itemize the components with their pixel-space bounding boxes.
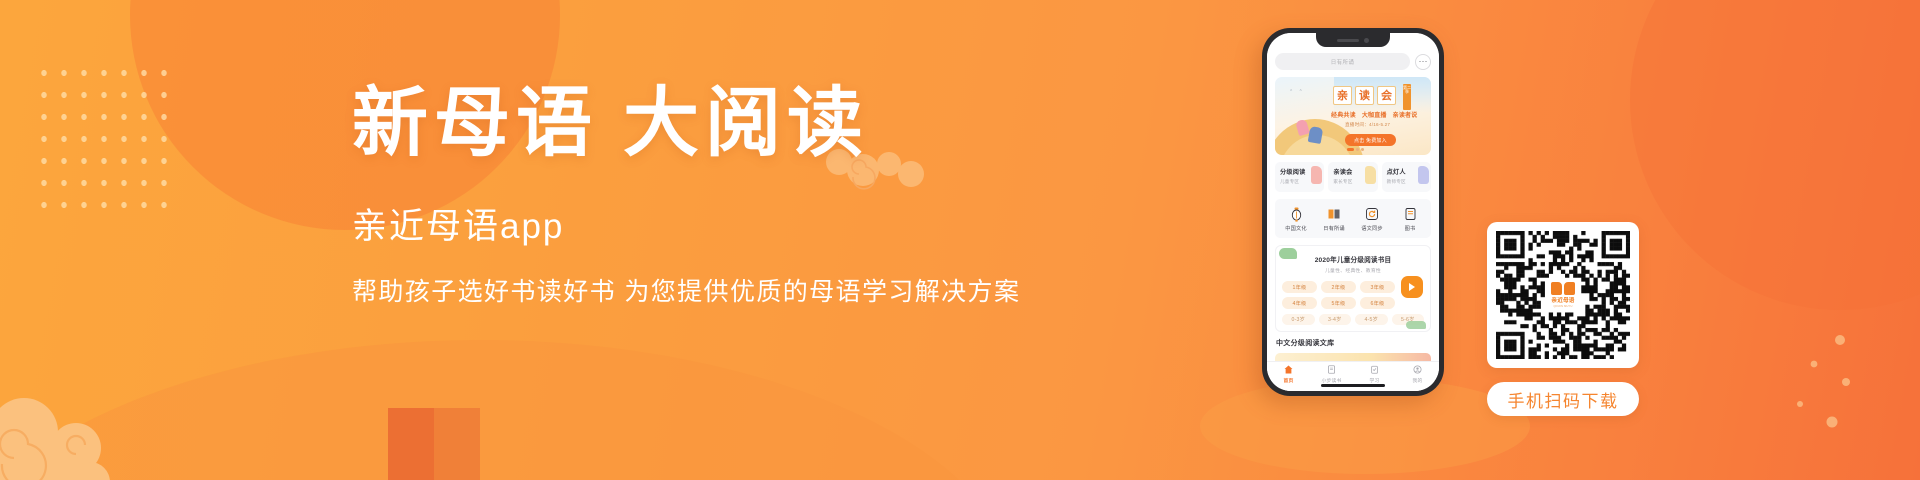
grade-chip[interactable]: 4年级	[1282, 297, 1317, 309]
decorative-dot-grid	[34, 62, 174, 210]
download-button[interactable]: 手机扫码下载	[1487, 382, 1639, 416]
age-chip[interactable]: 0-3岁	[1282, 314, 1315, 325]
tab-profile[interactable]: 我的	[1396, 363, 1439, 384]
decorative-circle-right	[1630, 0, 1920, 310]
book-logo-shape	[1551, 282, 1575, 295]
book-logo-icon: 亲近母语 QINJIN MUYU	[1546, 278, 1580, 312]
promo-banner: 新母语 大阅读 亲近母语app 帮助孩子选好书读好书 为您提供优质的母语学习解决…	[0, 0, 1920, 480]
grade-chip[interactable]: 3年级	[1360, 281, 1395, 293]
library-title: 中文分级阅读文库	[1276, 338, 1431, 348]
hero-title-char: 读	[1355, 86, 1374, 105]
cloud-swirl-icon	[0, 384, 172, 480]
grade-chip[interactable]: 6年级	[1360, 297, 1395, 309]
search-placeholder: 日有所诵	[1331, 58, 1355, 66]
carousel-pager[interactable]	[1347, 148, 1364, 151]
tab-study[interactable]: 学习	[1353, 363, 1396, 384]
tab-label: 首页	[1267, 377, 1310, 384]
app-home-screen: 日有所诵 ⌃ ⌃ 亲 读 会	[1267, 33, 1439, 391]
age-chip[interactable]: 4-5岁	[1355, 314, 1388, 325]
lantern-icon	[1277, 206, 1315, 222]
quick-link-label: 图书	[1391, 225, 1429, 232]
grade-chip[interactable]: 2年级	[1321, 281, 1356, 293]
booklist-card: 2020年儿童分级阅读书目 儿童性、经典性、教育性 1年级 2年级 3年级 4年…	[1275, 245, 1431, 332]
tab-home[interactable]: 首页	[1267, 363, 1310, 384]
birds-icon: ⌃ ⌃	[1289, 89, 1305, 95]
entry-card-parent-club[interactable]: 亲读会 家长专区	[1328, 162, 1377, 192]
hero-time: 直播时间：4/16-5.27	[1345, 122, 1390, 128]
page-title: 新母语 大阅读	[352, 86, 1072, 162]
age-chip-row: 0-3岁 3-4岁 4-5岁 5-6岁	[1282, 314, 1424, 325]
clipboard-icon	[1353, 363, 1396, 375]
bookmark-icon	[1365, 166, 1376, 184]
grade-chip[interactable]: 1年级	[1282, 281, 1317, 293]
books-icon	[1391, 206, 1429, 222]
hero-feature: 亲读者说	[1393, 110, 1418, 119]
home-icon	[1267, 363, 1310, 375]
quick-link-label: 日有所诵	[1315, 225, 1353, 232]
list-icon	[1310, 363, 1353, 375]
hero-title: 亲 读 会	[1333, 86, 1396, 105]
decorative-box	[388, 408, 480, 480]
leaf-decoration-icon	[1279, 248, 1297, 259]
quick-link-label: 中国文化	[1277, 225, 1315, 232]
hero-title-char: 亲	[1333, 86, 1352, 105]
copy-block: 新母语 大阅读 亲近母语app 帮助孩子选好书读好书 为您提供优质的母语学习解决…	[352, 86, 1072, 307]
hero-title-char: 会	[1377, 86, 1396, 105]
quick-link-daily-recite[interactable]: 日有所诵	[1315, 206, 1353, 232]
quick-link-chinese-culture[interactable]: 中国文化	[1277, 206, 1315, 232]
hero-features: 经典共读 大咖直播 亲读者说	[1331, 110, 1417, 119]
play-video-icon[interactable]	[1401, 276, 1423, 298]
decorative-hill	[0, 340, 1020, 480]
logo-sub: QINJIN MUYU	[1553, 305, 1572, 308]
tab-reading[interactable]: 小步读书	[1310, 363, 1353, 384]
hero-season-ribbon: 第二季	[1403, 84, 1411, 110]
tab-label: 我的	[1396, 377, 1439, 384]
phone-screen: 日有所诵 ⌃ ⌃ 亲 读 会	[1267, 33, 1439, 391]
search-row: 日有所诵	[1275, 53, 1431, 70]
front-camera-icon	[1364, 38, 1369, 43]
hero-feature: 大咖直播	[1362, 110, 1387, 119]
app-name-subtitle: 亲近母语app	[352, 208, 1072, 247]
bookmark-icon	[1311, 166, 1322, 184]
phone-notch	[1316, 33, 1390, 47]
hero-banner-card[interactable]: ⌃ ⌃ 亲 读 会 第二季 经典共读 大咖直播 亲读者说 直播时间：4/16-5…	[1275, 77, 1431, 155]
leaf-decoration-icon	[1406, 321, 1426, 329]
booklist-subtitle: 儿童性、经典性、教育性	[1282, 267, 1424, 274]
refresh-icon	[1353, 206, 1391, 222]
speaker-grill-icon	[1337, 39, 1359, 42]
age-chip[interactable]: 3-4岁	[1319, 314, 1352, 325]
quick-link-label: 语文同步	[1353, 225, 1391, 232]
child-illustration-b	[1308, 126, 1324, 144]
bookmark-icon	[1418, 166, 1429, 184]
quick-link-row: 中国文化 日有所诵	[1275, 199, 1431, 238]
more-dots-icon[interactable]	[1415, 54, 1431, 70]
home-indicator	[1321, 384, 1385, 387]
decorative-sparkles	[1744, 330, 1864, 440]
search-input[interactable]: 日有所诵	[1275, 53, 1410, 70]
book-open-icon	[1315, 206, 1353, 222]
hero-join-button[interactable]: 点击 免费加入	[1345, 134, 1396, 146]
entry-card-teacher[interactable]: 点灯人 教师专区	[1382, 162, 1431, 192]
qr-code-card[interactable]: 亲近母语 QINJIN MUYU	[1487, 222, 1639, 368]
quick-link-textbook-sync[interactable]: 语文同步	[1353, 206, 1391, 232]
phone-mockup: 日有所诵 ⌃ ⌃ 亲 读 会	[1262, 28, 1444, 396]
user-icon	[1396, 363, 1439, 375]
logo-name: 亲近母语	[1551, 296, 1574, 304]
quick-link-books[interactable]: 图书	[1391, 206, 1429, 232]
grade-chip[interactable]: 5年级	[1321, 297, 1356, 309]
tab-label: 小步读书	[1310, 377, 1353, 384]
tagline: 帮助孩子选好书读好书 为您提供优质的母语学习解决方案	[352, 277, 1072, 307]
booklist-title: 2020年儿童分级阅读书目	[1282, 254, 1424, 264]
entry-card-graded-reading[interactable]: 分级阅读 儿童专区	[1275, 162, 1324, 192]
tab-label: 学习	[1353, 377, 1396, 384]
entry-card-row: 分级阅读 儿童专区 亲读会 家长专区 点灯人 教师专区	[1275, 162, 1431, 192]
hero-feature: 经典共读	[1331, 110, 1356, 119]
qr-block: 亲近母语 QINJIN MUYU 手机扫码下载	[1487, 222, 1639, 416]
